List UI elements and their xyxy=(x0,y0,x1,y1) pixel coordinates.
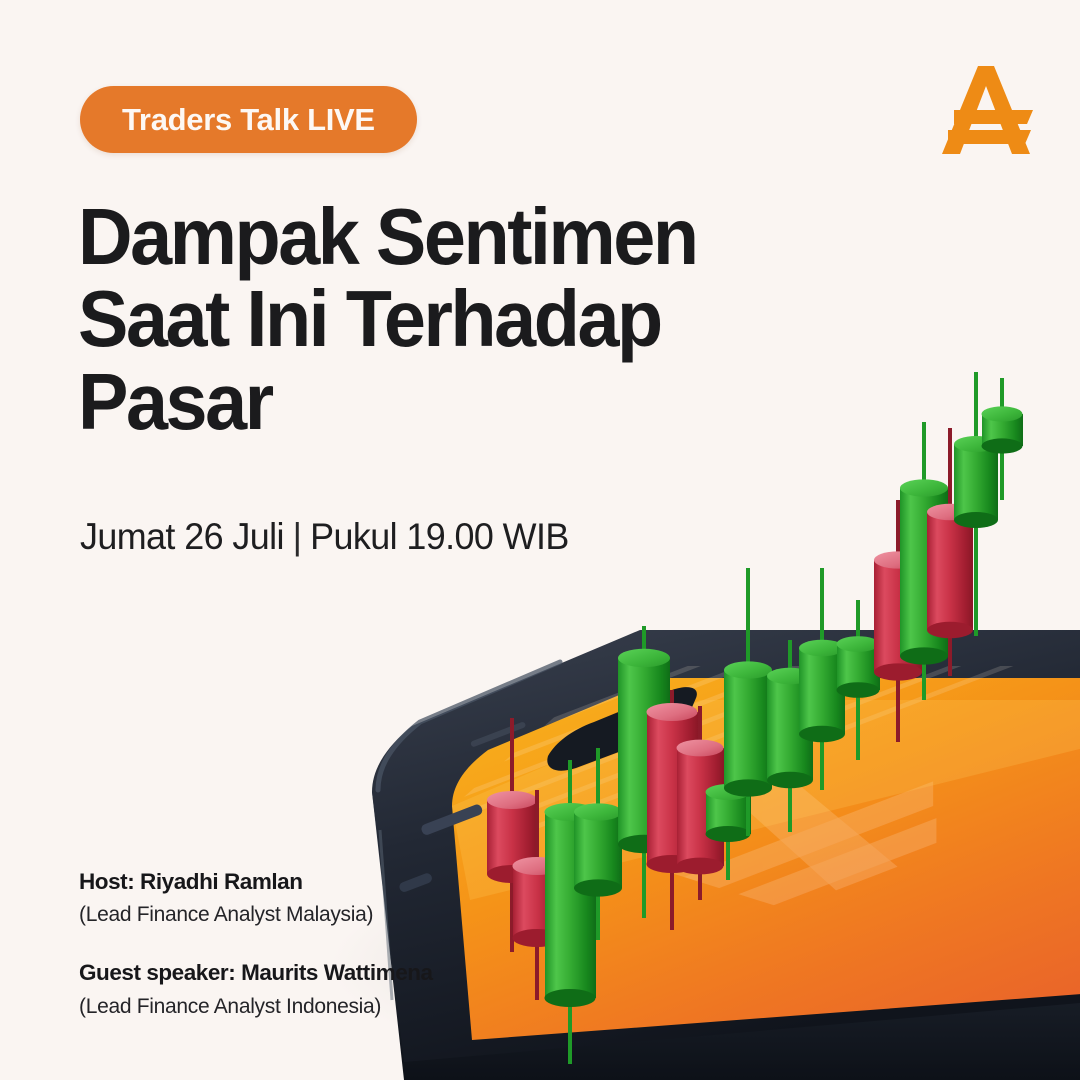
schedule-time: Pukul 19.00 WIB xyxy=(310,516,569,557)
credit-host-name: Host: Riyadhi Ramlan xyxy=(79,868,433,896)
headline-line-3: Pasar xyxy=(78,361,777,443)
schedule-date: Jumat 26 Juli xyxy=(80,516,284,557)
page-title: Dampak Sentimen Saat Ini Terhadap Pasar xyxy=(78,196,777,443)
credit-guest-name: Guest speaker: Maurits Wattimena xyxy=(79,959,433,987)
credit-guest-role: (Lead Finance Analyst Indonesia) xyxy=(79,993,433,1021)
headline-line-1: Dampak Sentimen xyxy=(78,196,777,278)
schedule-line: Jumat 26 Juli|Pukul 19.00 WIB xyxy=(80,516,569,558)
credit-host: Host: Riyadhi Ramlan (Lead Finance Analy… xyxy=(79,868,433,929)
poster-canvas: Traders Talk LIVE Dampak Sentimen Saat I… xyxy=(0,0,1080,1080)
live-badge-label: Traders Talk LIVE xyxy=(122,102,375,138)
headline-line-2: Saat Ini Terhadap xyxy=(78,278,777,360)
brand-logo-a-icon xyxy=(934,58,1038,162)
live-badge: Traders Talk LIVE xyxy=(80,86,417,153)
speaker-credits: Host: Riyadhi Ramlan (Lead Finance Analy… xyxy=(79,868,433,1021)
credit-host-role: (Lead Finance Analyst Malaysia) xyxy=(79,901,433,929)
credit-guest: Guest speaker: Maurits Wattimena (Lead F… xyxy=(79,959,433,1020)
schedule-separator: | xyxy=(284,516,310,558)
